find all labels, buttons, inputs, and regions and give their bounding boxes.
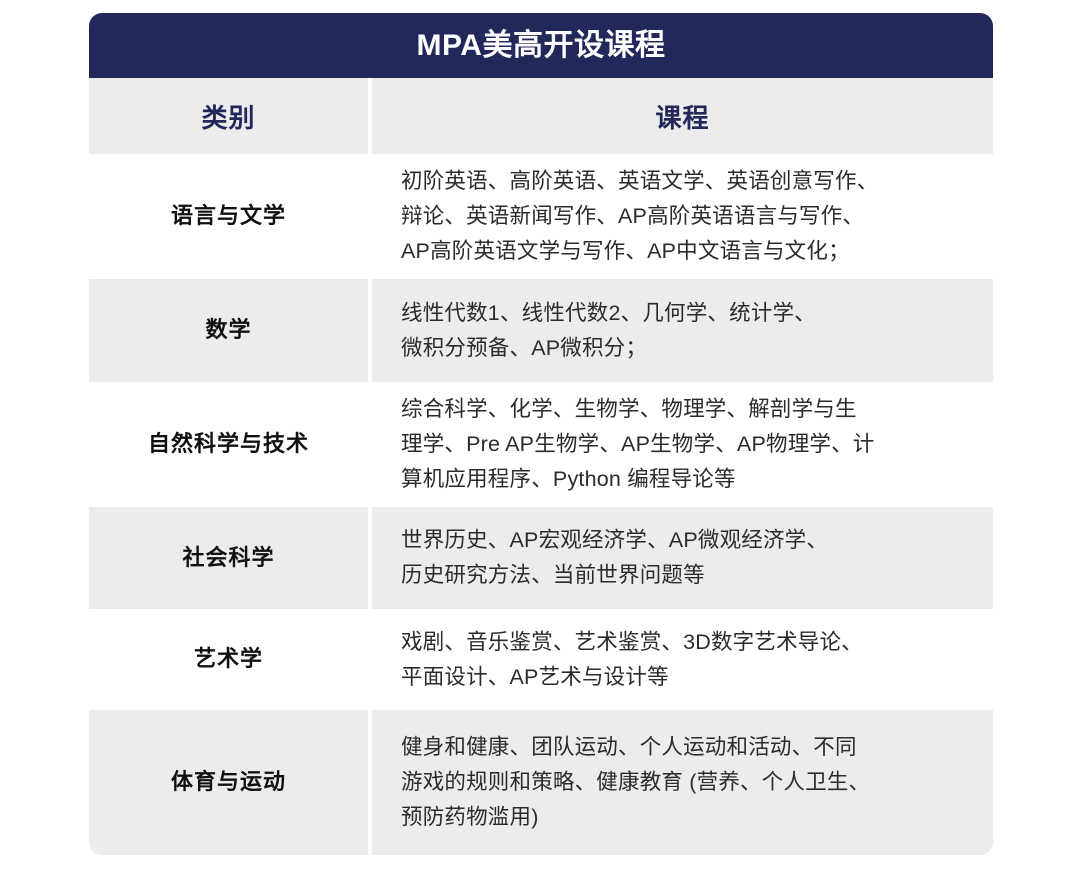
row-cell-category: 艺术学: [89, 609, 368, 710]
course-table-container: MPA美高开设课程 类别 课程 语言与文学 初阶英语、高阶英语、英语文学、英语创…: [89, 13, 993, 855]
table-row: 数学 线性代数1、线性代数2、几何学、统计学、 微积分预备、AP微积分；: [89, 279, 993, 382]
row-cell-category: 体育与运动: [89, 710, 368, 855]
table-row: 社会科学 世界历史、AP宏观经济学、AP微观经济学、 历史研究方法、当前世界问题…: [89, 507, 993, 609]
row-cell-courses: 戏剧、音乐鉴赏、艺术鉴赏、3D数字艺术导论、 平面设计、AP艺术与设计等: [372, 609, 993, 710]
category-label: 社会科学: [182, 543, 274, 574]
table-row: 体育与运动 健身和健康、团队运动、个人运动和活动、不同 游戏的规则和策略、健康教…: [89, 710, 993, 855]
category-label: 艺术学: [194, 644, 263, 675]
courses-list: 世界历史、AP宏观经济学、AP微观经济学、 历史研究方法、当前世界问题等: [401, 523, 828, 593]
table-row: 艺术学 戏剧、音乐鉴赏、艺术鉴赏、3D数字艺术导论、 平面设计、AP艺术与设计等: [89, 609, 993, 710]
row-cell-courses: 世界历史、AP宏观经济学、AP微观经济学、 历史研究方法、当前世界问题等: [372, 507, 993, 609]
table-title: MPA美高开设课程: [89, 13, 993, 78]
header-cell-courses: 课程: [372, 78, 993, 154]
row-cell-courses: 健身和健康、团队运动、个人运动和活动、不同 游戏的规则和策略、健康教育 (营养、…: [372, 710, 993, 855]
courses-list: 线性代数1、线性代数2、几何学、统计学、 微积分预备、AP微积分；: [401, 296, 816, 366]
row-cell-courses: 综合科学、化学、生物学、物理学、解剖学与生 理学、Pre AP生物学、AP生物学…: [372, 382, 993, 507]
courses-list: 戏剧、音乐鉴赏、艺术鉴赏、3D数字艺术导论、 平面设计、AP艺术与设计等: [401, 625, 863, 695]
table-header-row: 类别 课程: [89, 78, 993, 154]
row-cell-category: 数学: [89, 279, 368, 382]
courses-list: 初阶英语、高阶英语、英语文学、英语创意写作、 辩论、英语新闻写作、AP高阶英语语…: [401, 164, 878, 269]
row-cell-category: 自然科学与技术: [89, 382, 368, 507]
row-cell-category: 社会科学: [89, 507, 368, 609]
row-cell-category: 语言与文学: [89, 154, 368, 279]
header-label-category: 类别: [201, 98, 255, 135]
category-label: 数学: [205, 315, 251, 346]
row-cell-courses: 线性代数1、线性代数2、几何学、统计学、 微积分预备、AP微积分；: [372, 279, 993, 382]
row-cell-courses: 初阶英语、高阶英语、英语文学、英语创意写作、 辩论、英语新闻写作、AP高阶英语语…: [372, 154, 993, 279]
header-cell-category: 类别: [89, 78, 368, 154]
course-table: MPA美高开设课程 类别 课程 语言与文学 初阶英语、高阶英语、英语文学、英语创…: [89, 13, 993, 855]
courses-list: 综合科学、化学、生物学、物理学、解剖学与生 理学、Pre AP生物学、AP生物学…: [401, 392, 875, 497]
category-label: 语言与文学: [171, 201, 286, 232]
courses-list: 健身和健康、团队运动、个人运动和活动、不同 游戏的规则和策略、健康教育 (营养、…: [401, 730, 870, 835]
header-label-courses: 课程: [655, 98, 709, 135]
category-label: 自然科学与技术: [148, 429, 309, 460]
table-row: 自然科学与技术 综合科学、化学、生物学、物理学、解剖学与生 理学、Pre AP生…: [89, 382, 993, 507]
table-row: 语言与文学 初阶英语、高阶英语、英语文学、英语创意写作、 辩论、英语新闻写作、A…: [89, 154, 993, 279]
category-label: 体育与运动: [171, 767, 286, 798]
